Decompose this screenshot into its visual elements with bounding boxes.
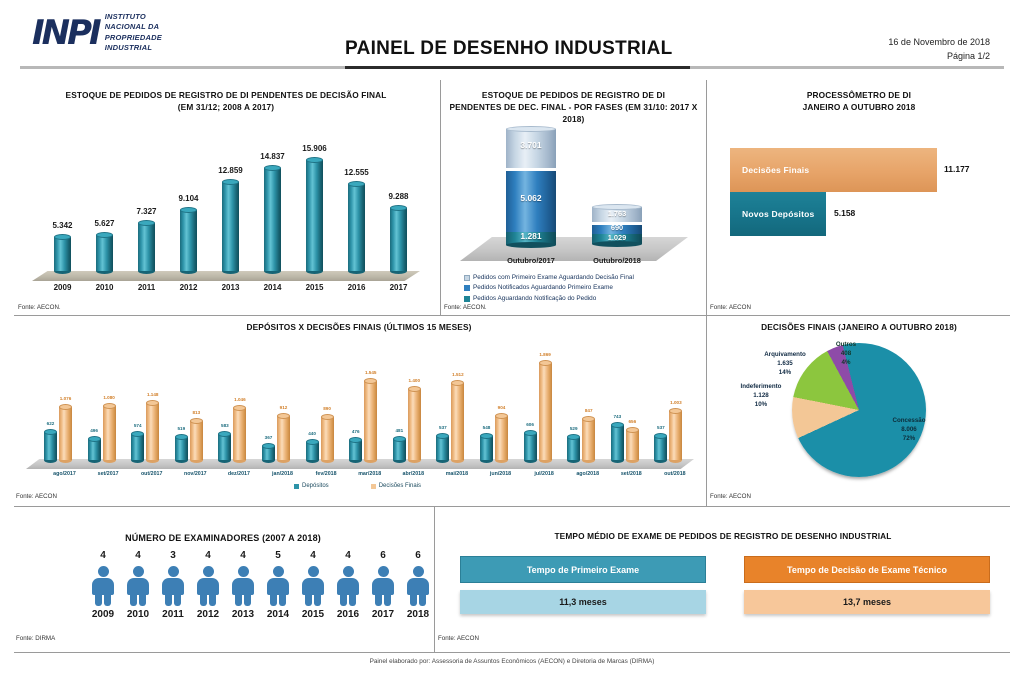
bar-2017 (390, 205, 407, 274)
footer-note: Painel elaborado por: Assessoria de Assu… (0, 658, 1024, 665)
axis-label-2009: 2009 (41, 283, 84, 292)
pie-slice-name: Concessão (878, 417, 940, 426)
legend-label: Pedidos Aguardando Notificação do Pedido (473, 294, 596, 304)
chart-examinadores: NÚMERO DE EXAMINADORES (2007 A 2018) 420… (14, 508, 432, 650)
chart-title: DEPÓSITOS X DECISÕES FINAIS (ÚLTIMOS 15 … (14, 321, 704, 333)
pie-slice-name: Arquivamento (752, 351, 818, 360)
header-meta: 16 de Novembro de 2018 Página 1/2 (888, 36, 990, 64)
bar-2016 (348, 181, 365, 274)
bar-decisões-finais-mai-2018 (451, 380, 464, 463)
segment-label-2: 690 (592, 223, 642, 232)
chart-title-line2: PENDENTES DE DEC. FINAL - POR FASES (EM … (442, 101, 705, 125)
bar-2010 (96, 232, 113, 274)
bar-value-decisoes-nov-2017: 813 (183, 410, 210, 415)
stack-outubro-2018: 1.763 690 1.029 (592, 204, 642, 247)
axis-label-2009: 2009 (84, 609, 122, 620)
bar-decisoes-finais: Decisões Finais (730, 148, 937, 192)
examiners-count-2011: 3 (154, 550, 192, 561)
page-header: INPI INSTITUTO NACIONAL DA PROPRIEDADE I… (0, 0, 1024, 72)
tempo-decisao-tecnico-value-box: 13,7 meses (744, 590, 990, 614)
dashboard-page: INPI INSTITUTO NACIONAL DA PROPRIEDADE I… (0, 0, 1024, 690)
chart-tempo-medio: TEMPO MÉDIO DE EXAME DE PEDIDOS DE REGIS… (436, 508, 1010, 650)
bar-decisões-finais-mar-2018 (364, 378, 377, 463)
legend-item-decisoes-finais[interactable]: Decisões Finais (371, 482, 421, 492)
chart-title-line1: ESTOQUE DE PEDIDOS DE REGISTRO DE DI (442, 89, 705, 101)
person-icon-2017 (370, 566, 396, 606)
chart-title: ESTOQUE DE PEDIDOS DE REGISTRO DE DI PEN… (442, 89, 705, 125)
axis-label-2012: 2012 (189, 609, 227, 620)
person-icon-2015 (300, 566, 326, 606)
legend-swatch-icon (371, 484, 376, 489)
axis-label-outubro-2017: Outubro/2017 (494, 256, 568, 265)
tempo-decisao-tecnico-label: Tempo de Decisão de Exame Técnico (787, 565, 947, 575)
pie-label-outros: Outros 408 4% (826, 341, 866, 368)
bar-depósitos-mar-2018 (349, 437, 362, 463)
examiners-count-2018: 6 (399, 550, 437, 561)
source-note: Fonte: AECON (16, 493, 57, 500)
tempo-primeiro-exame-label: Tempo de Primeiro Exame (527, 565, 639, 575)
axis-label-2011: 2011 (125, 283, 168, 292)
person-icon-2013 (230, 566, 256, 606)
bar-value-decisoes-dez-2017: 1.046 (226, 397, 253, 402)
bar-decisões-finais-jul-2018 (539, 360, 552, 463)
examiners-count-2017: 6 (364, 550, 402, 561)
segment-label-3: 1.281 (506, 231, 556, 241)
person-icon-2014 (265, 566, 291, 606)
bar-depósitos-jan-2018 (262, 443, 275, 463)
bar-depósitos-fev-2018 (306, 439, 319, 463)
tempo-primeiro-exame-value-box: 11,3 meses (460, 590, 706, 614)
legend-item-3[interactable]: Pedidos Aguardando Notificação do Pedido (464, 294, 634, 304)
axis-label-2015: 2015 (293, 283, 336, 292)
segment-label-3: 1.029 (592, 233, 642, 242)
bar-decisões-finais-out-2018 (669, 408, 682, 463)
axis-label-2017: 2017 (364, 609, 402, 620)
examiners-count-2016: 4 (329, 550, 367, 561)
pie-slice-percent: 10% (728, 401, 794, 410)
chart-title: ESTOQUE DE PEDIDOS DE REGISTRO DE DI PEN… (24, 89, 428, 113)
axis-label-2010: 2010 (83, 283, 126, 292)
bar-value-decisoes-jul-2018: 1.869 (532, 352, 559, 357)
bar-2015 (306, 157, 323, 274)
examiners-count-2010: 4 (119, 550, 157, 561)
source-note: Fonte: AECON. (444, 304, 487, 311)
panel-divider-v3 (706, 316, 707, 506)
axis-label-2012: 2012 (167, 283, 210, 292)
pie-label-arquivamento: Arquivamento 1.635 14% (752, 351, 818, 378)
examiners-count-2014: 5 (259, 550, 297, 561)
bar-label-decisoes-finais: Decisões Finais (730, 165, 809, 175)
bar-2014 (264, 165, 281, 274)
bar-value-decisoes-finais: 11.177 (944, 164, 970, 174)
bar-depósitos-out-2018 (654, 433, 667, 463)
axis-label-2018: 2018 (399, 609, 437, 620)
bar-label-2013: 12.859 (209, 166, 252, 175)
bar-depósitos-out-2017 (131, 431, 144, 463)
bar-value-decisoes-ago-2017: 1.076 (52, 396, 79, 401)
tempo-primeiro-exame-header: Tempo de Primeiro Exame (460, 556, 706, 583)
chart-title: TEMPO MÉDIO DE EXAME DE PEDIDOS DE REGIS… (436, 530, 1010, 542)
panel-divider-h2 (14, 506, 1010, 507)
bar-label-2010: 5.627 (83, 219, 126, 228)
source-note: Fonte: AECON. (18, 304, 61, 311)
chart-title-line1: PROCESSÔMETRO DE DI (708, 89, 1010, 101)
bar-label-2012: 9.104 (167, 194, 210, 203)
bar-2009 (54, 234, 71, 274)
bar-decisões-finais-ago-2017 (59, 404, 72, 463)
bar-2012 (180, 207, 197, 274)
pie-label-indeferimento: Indeferimento 1.128 10% (728, 383, 794, 410)
examiners-count-2009: 4 (84, 550, 122, 561)
bar-label-2009: 5.342 (41, 221, 84, 230)
bar-label-2016: 12.555 (335, 168, 378, 177)
person-icon-2012 (195, 566, 221, 606)
pie-slice-value: 8.006 (878, 426, 940, 435)
bar-value-decisoes-set-2017: 1.080 (96, 395, 123, 400)
examiners-count-2015: 4 (294, 550, 332, 561)
bar-value-decisoes-jan-2018: 912 (270, 405, 297, 410)
pie-slice-value: 1.128 (728, 392, 794, 401)
axis-label-2016: 2016 (329, 609, 367, 620)
bar-decisões-finais-ago-2018 (582, 416, 595, 463)
legend-item-2[interactable]: Pedidos Notificados Aguardando Primeiro … (464, 283, 634, 293)
bar-label-2011: 7.327 (125, 207, 168, 216)
bar-value-decisoes-ago-2018: 847 (575, 408, 602, 413)
tempo-primeiro-exame-value: 11,3 meses (559, 597, 607, 607)
bar-depósitos-set-2018 (611, 422, 624, 463)
segment-label-1: 1.763 (592, 209, 642, 218)
bar-value-decisoes-jun-2018: 904 (488, 405, 515, 410)
pie-slice-percent: 4% (826, 359, 866, 368)
bar-value-decisoes-mar-2018: 1.545 (357, 370, 384, 375)
chart-estoque-anual: ESTOQUE DE PEDIDOS DE REGISTRO DE DI PEN… (14, 82, 438, 314)
chart-title-line2: JANEIRO A OUTUBRO 2018 (708, 101, 1010, 113)
pie-slice-value: 408 (826, 350, 866, 359)
bar-depósitos-ago-2018 (567, 434, 580, 463)
legend-label: Decisões Finais (379, 482, 421, 492)
chart-depositos-x-decisoes: DEPÓSITOS X DECISÕES FINAIS (ÚLTIMOS 15 … (14, 317, 704, 505)
axis-label-2014: 2014 (251, 283, 294, 292)
legend-item-1[interactable]: Pedidos com Primeiro Exame Aguardando De… (464, 273, 634, 283)
axis-label-2013: 2013 (209, 283, 252, 292)
bar-label-2015: 15.906 (293, 144, 336, 153)
chart-estoque-fases: ESTOQUE DE PEDIDOS DE REGISTRO DE DI PEN… (442, 82, 705, 314)
bar-value-decisoes-out-2018: 1.003 (662, 400, 689, 405)
axis-label-2014: 2014 (259, 609, 297, 620)
person-icon-2009 (90, 566, 116, 606)
chart-legend: Pedidos com Primeiro Exame Aguardando De… (464, 273, 634, 304)
panel-divider-v2 (706, 80, 707, 315)
bar-value-decisoes-abr-2018: 1.400 (401, 378, 428, 383)
bar-decisões-finais-dez-2017 (233, 405, 246, 463)
person-icon-2010 (125, 566, 151, 606)
page-title: PAINEL DE DESENHO INDUSTRIAL (345, 38, 673, 60)
bar-2011 (138, 220, 155, 274)
inpi-logo-mark: INPI (32, 13, 99, 53)
legend-swatch-icon (464, 296, 470, 302)
source-note: Fonte: AECON (710, 304, 751, 311)
axis-label-2016: 2016 (335, 283, 378, 292)
chart-title-line1: ESTOQUE DE PEDIDOS DE REGISTRO DE DI PEN… (24, 89, 428, 101)
bar-depósitos-nov-2017 (175, 434, 188, 463)
legend-swatch-icon (464, 285, 470, 291)
panel-divider-h3 (14, 652, 1010, 653)
bar-label-2014: 14.837 (251, 152, 294, 161)
panel-divider-v1 (440, 80, 441, 315)
pie-slice-percent: 72% (878, 435, 940, 444)
logo-line-2: NACIONAL DA (105, 22, 162, 32)
examiners-count-2012: 4 (189, 550, 227, 561)
chart-legend: Depósitos Decisões Finais (294, 482, 421, 492)
bar-depósitos-ago-2017 (44, 429, 57, 463)
report-date: 16 de Novembro de 2018 (888, 36, 990, 50)
legend-label: Depósitos (302, 482, 329, 492)
legend-item-depositos[interactable]: Depósitos (294, 482, 329, 492)
bar-2013 (222, 179, 239, 274)
panel-divider-v4 (434, 507, 435, 652)
axis-label-2017: 2017 (377, 283, 420, 292)
pie-label-concessao: Concessão 8.006 72% (878, 417, 940, 444)
bar-decisões-finais-abr-2018 (408, 386, 421, 463)
chart-title: NÚMERO DE EXAMINADORES (2007 A 2018) (14, 532, 432, 545)
bar-decisões-finais-nov-2017 (190, 418, 203, 463)
pie-slice-name: Outros (826, 341, 866, 350)
bar-value-decisoes-fev-2018: 890 (314, 406, 341, 411)
bar-value-decisoes-set-2018: 656 (619, 419, 646, 424)
source-note: Fonte: AECON (438, 635, 479, 642)
segment-label-2: 5.062 (506, 193, 556, 203)
bar-value-decisoes-mai-2018: 1.512 (444, 372, 471, 377)
bar-decisões-finais-set-2017 (103, 403, 116, 463)
source-note: Fonte: DIRMA (16, 635, 55, 642)
stack-outubro-2017: 3.701 5.062 1.281 (506, 126, 556, 248)
inpi-logo: INPI INSTITUTO NACIONAL DA PROPRIEDADE I… (32, 12, 162, 53)
pie-slice-value: 1.635 (752, 360, 818, 369)
bar-label-2017: 9.288 (377, 192, 420, 201)
bar-depósitos-jun-2018 (480, 433, 493, 463)
bar-value-novos-depositos: 5.158 (834, 208, 855, 218)
bar-value-decisoes-out-2017: 1.148 (139, 392, 166, 397)
pie-slice-percent: 14% (752, 369, 818, 378)
chart-processometro: PROCESSÔMETRO DE DI JANEIRO A OUTUBRO 20… (708, 82, 1010, 314)
bar-decisões-finais-fev-2018 (321, 414, 334, 463)
legend-swatch-icon (464, 275, 470, 281)
bar-decisões-finais-out-2017 (146, 400, 159, 463)
person-icon-2011 (160, 566, 186, 606)
tempo-decisao-tecnico-value: 13,7 meses (843, 597, 891, 607)
page-number: Página 1/2 (888, 50, 990, 64)
axis-label-2015: 2015 (294, 609, 332, 620)
person-icon-2018 (405, 566, 431, 606)
axis-label-2011: 2011 (154, 609, 192, 620)
source-note: Fonte: AECON (710, 493, 751, 500)
chart-title: PROCESSÔMETRO DE DI JANEIRO A OUTUBRO 20… (708, 89, 1010, 113)
bar-novos-depositos: Novos Depósitos (730, 192, 826, 236)
logo-line-4: INDUSTRIAL (105, 43, 162, 53)
legend-label: Pedidos com Primeiro Exame Aguardando De… (473, 273, 634, 283)
bar-decisões-finais-jan-2018 (277, 413, 290, 463)
axis-label-outubro-2018: Outubro/2018 (580, 256, 654, 265)
bar-decisões-finais-set-2018 (626, 427, 639, 463)
panel-divider-h1 (14, 315, 1010, 316)
logo-line-3: PROPRIEDADE (105, 33, 162, 43)
axis-label-2010: 2010 (119, 609, 157, 620)
bar-depósitos-set-2017 (88, 436, 101, 463)
bar-label-novos-depositos: Novos Depósitos (730, 209, 814, 219)
bar-decisões-finais-jun-2018 (495, 413, 508, 463)
axis-label-out-2018: out/2018 (646, 471, 703, 477)
legend-swatch-icon (294, 484, 299, 489)
chart-title: DECISÕES FINAIS (JANEIRO A OUTUBRO 2018) (708, 321, 1010, 333)
segment-label-1: 3.701 (506, 140, 556, 150)
axis-label-2013: 2013 (224, 609, 262, 620)
logo-line-1: INSTITUTO (105, 12, 162, 22)
legend-label: Pedidos Notificados Aguardando Primeiro … (473, 283, 613, 293)
inpi-logo-words: INSTITUTO NACIONAL DA PROPRIEDADE INDUST… (105, 12, 162, 53)
bar-depósitos-jul-2018 (524, 430, 537, 463)
header-divider-accent (345, 66, 690, 69)
chart-title-line2: (EM 31/12; 2008 A 2017) (24, 101, 428, 113)
person-icon-2016 (335, 566, 361, 606)
tempo-decisao-tecnico-header: Tempo de Decisão de Exame Técnico (744, 556, 990, 583)
chart-decisoes-finais-pie: DECISÕES FINAIS (JANEIRO A OUTUBRO 2018)… (708, 317, 1010, 505)
examiners-count-2013: 4 (224, 550, 262, 561)
bar-depósitos-abr-2018 (393, 436, 406, 463)
bar-depósitos-mai-2018 (436, 433, 449, 463)
pie-slice-name: Indeferimento (728, 383, 794, 392)
bar-depósitos-dez-2017 (218, 431, 231, 463)
